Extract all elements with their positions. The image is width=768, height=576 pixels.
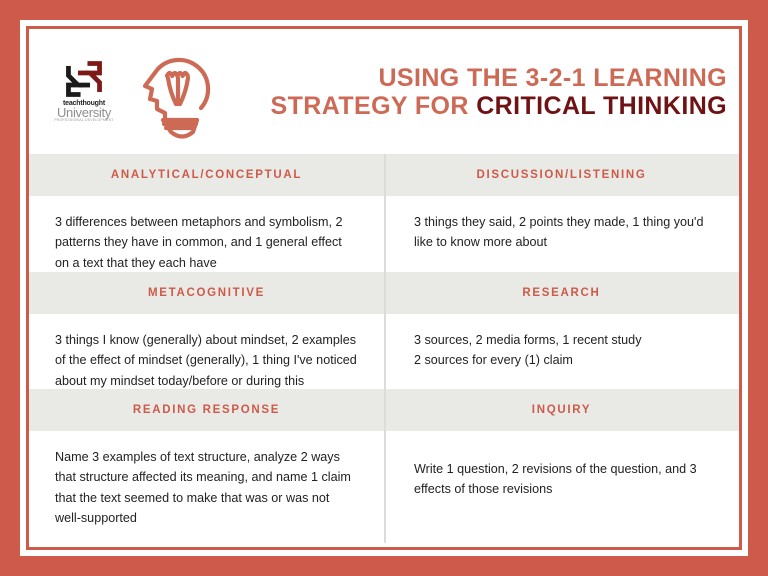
header-discussion-listening: DISCUSSION/LISTENING bbox=[384, 154, 739, 196]
title-line-2-light: STRATEGY FOR bbox=[271, 92, 477, 120]
header-reading-response: READING RESPONSE bbox=[29, 389, 384, 431]
header-analytical-conceptual: ANALYTICAL/CONCEPTUAL bbox=[29, 154, 384, 196]
poster-title: USING THE 3-2-1 LEARNING STRATEGY FOR CR… bbox=[219, 64, 733, 120]
cell-discussion-listening: 3 things they said, 2 points they made, … bbox=[384, 196, 739, 272]
cell-metacognitive: 3 things I know (generally) about mindse… bbox=[29, 314, 384, 389]
cell-text: 3 things they said, 2 points they made, … bbox=[414, 212, 719, 253]
brand-group: teachthought University PROFESSIONAL DEV… bbox=[51, 42, 219, 142]
title-line-1: USING THE 3-2-1 LEARNING bbox=[219, 64, 727, 92]
header-inquiry: INQUIRY bbox=[384, 389, 739, 431]
strategy-table: ANALYTICAL/CONCEPTUAL DISCUSSION/LISTENI… bbox=[29, 154, 739, 547]
teachthought-mark-icon bbox=[62, 60, 106, 98]
teachthought-university-logo: teachthought University PROFESSIONAL DEV… bbox=[51, 60, 117, 123]
header-metacognitive: METACOGNITIVE bbox=[29, 272, 384, 314]
header-research: RESEARCH bbox=[384, 272, 739, 314]
cell-analytical-conceptual: 3 differences between metaphors and symb… bbox=[29, 196, 384, 272]
cell-text: Name 3 examples of text structure, analy… bbox=[55, 447, 358, 529]
cell-reading-response: Name 3 examples of text structure, analy… bbox=[29, 431, 384, 523]
cell-inquiry: Write 1 question, 2 revisions of the que… bbox=[384, 431, 739, 523]
cell-text: 3 sources, 2 media forms, 1 recent study… bbox=[414, 330, 719, 371]
poster-header: teachthought University PROFESSIONAL DEV… bbox=[29, 29, 739, 154]
column-divider bbox=[384, 154, 386, 543]
title-line-2-dark: CRITICAL THINKING bbox=[476, 92, 727, 120]
cell-text: Write 1 question, 2 revisions of the que… bbox=[414, 459, 719, 500]
logo-word-sub: PROFESSIONAL DEVELOPMENT bbox=[54, 119, 113, 123]
poster-sheet: teachthought University PROFESSIONAL DEV… bbox=[29, 29, 739, 547]
title-line-2: STRATEGY FOR CRITICAL THINKING bbox=[219, 92, 727, 120]
cell-research: 3 sources, 2 media forms, 1 recent study… bbox=[384, 314, 739, 389]
poster-frame: teachthought University PROFESSIONAL DEV… bbox=[0, 0, 768, 576]
head-lightbulb-icon bbox=[135, 42, 219, 142]
cell-text: 3 differences between metaphors and symb… bbox=[55, 212, 358, 273]
